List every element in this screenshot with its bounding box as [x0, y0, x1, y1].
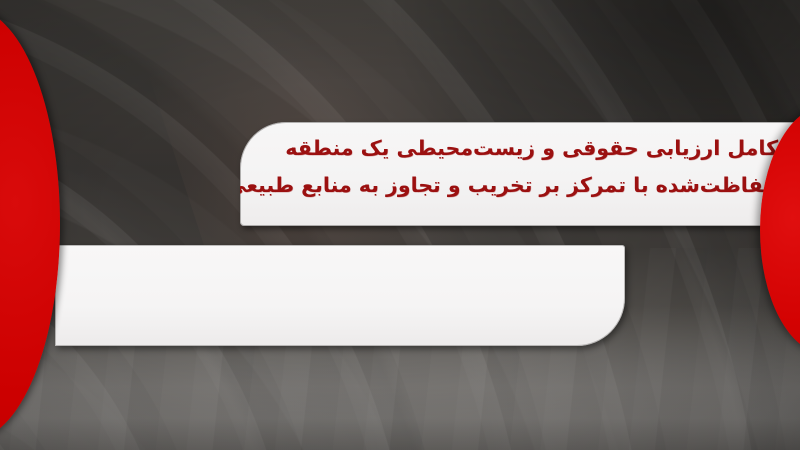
- content-placeholder-text: [79, 255, 601, 336]
- slide-title-line-1: کامل ارزیابی حقوقی و زیست‌محیطی یک منطقه: [258, 130, 778, 167]
- presentation-slide: کامل ارزیابی حقوقی و زیست‌محیطی یک منطقه…: [0, 0, 800, 450]
- content-placeholder-panel[interactable]: [55, 245, 625, 346]
- slide-title: کامل ارزیابی حقوقی و زیست‌محیطی یک منطقه…: [258, 130, 778, 204]
- title-panel[interactable]: کامل ارزیابی حقوقی و زیست‌محیطی یک منطقه…: [240, 122, 800, 226]
- slide-title-line-2: حفاظت‌شده با تمرکز بر تخریب و تجاوز به م…: [258, 167, 778, 204]
